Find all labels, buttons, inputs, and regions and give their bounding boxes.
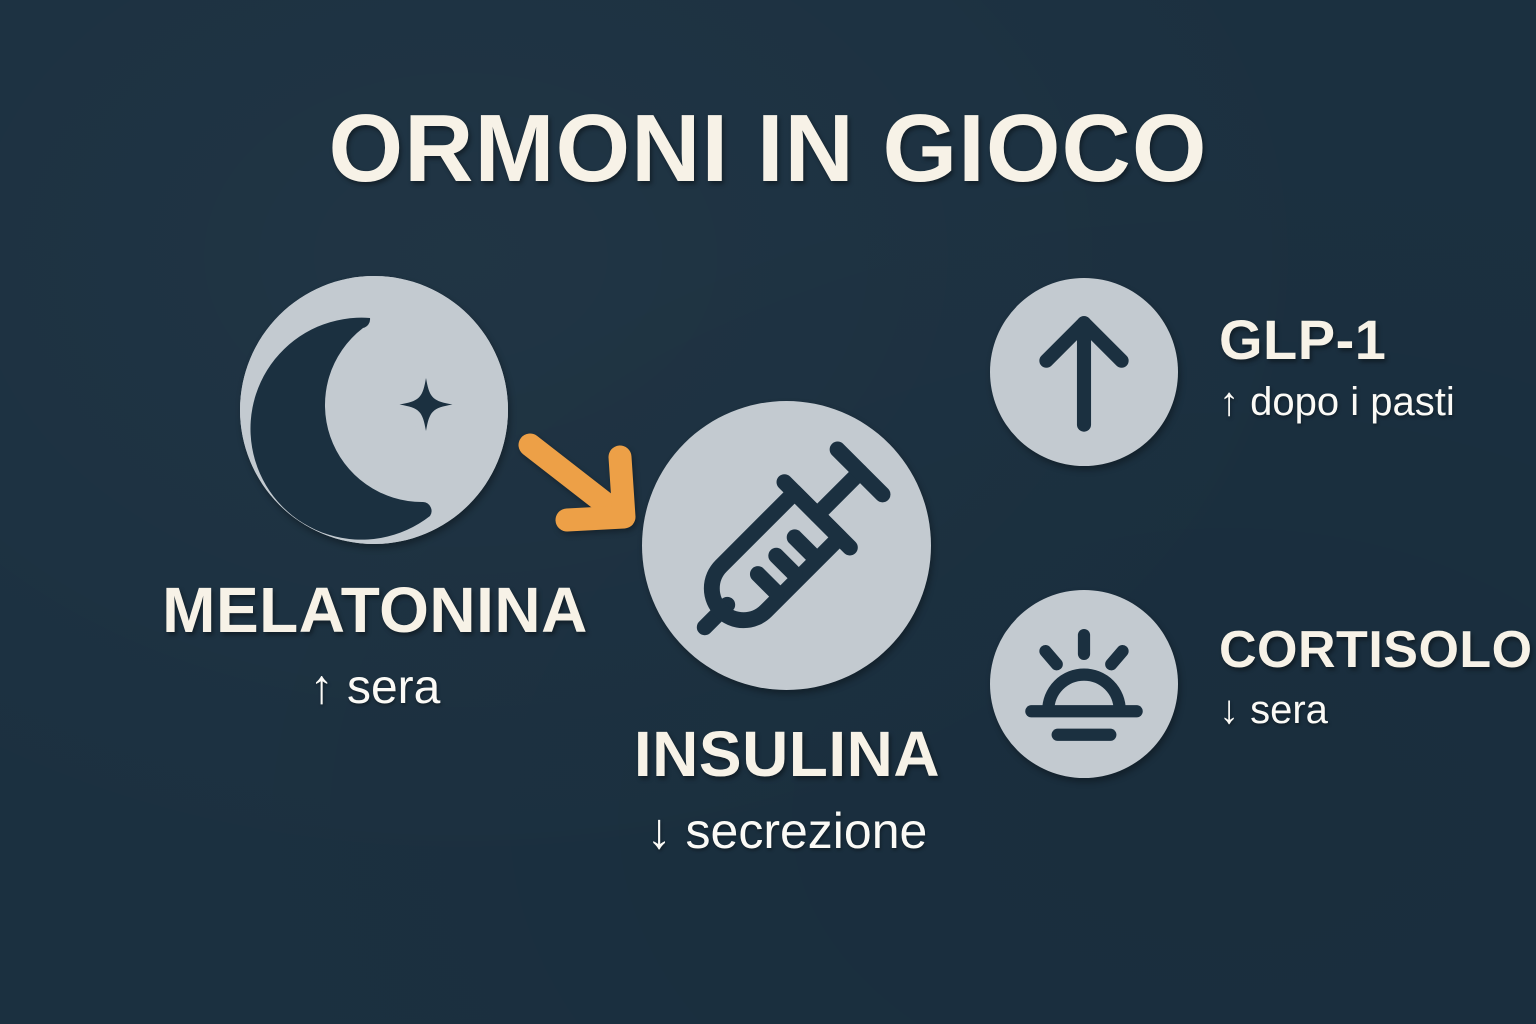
melatonina-subtext: ↑ sera bbox=[60, 664, 690, 712]
insulina-icon-circle bbox=[642, 401, 931, 690]
glp1-subtext: ↑ dopo i pasti bbox=[1219, 382, 1455, 422]
glp1-icon-circle bbox=[990, 278, 1178, 466]
glp1-label-block: GLP-1 ↑ dopo i pasti bbox=[1219, 312, 1455, 422]
arrow-down-right-icon bbox=[512, 425, 652, 545]
sunrise-icon bbox=[990, 590, 1178, 778]
cortisolo-subtext: ↓ sera bbox=[1219, 690, 1533, 730]
glp1-name: GLP-1 bbox=[1219, 312, 1455, 368]
infographic-canvas: ORMONI IN GIOCO MELATONINA ↑ sera bbox=[0, 0, 1536, 1024]
page-title: ORMONI IN GIOCO bbox=[0, 94, 1536, 204]
melatonina-label-block: MELATONINA ↑ sera bbox=[60, 578, 690, 712]
insulina-subtext: ↓ secrezione bbox=[482, 806, 1092, 856]
arrow-up-icon bbox=[990, 278, 1178, 466]
cortisolo-icon-circle bbox=[990, 590, 1178, 778]
cortisolo-label-block: CORTISOLO ↓ sera bbox=[1219, 624, 1533, 730]
syringe-icon bbox=[642, 401, 931, 690]
cortisolo-name: CORTISOLO bbox=[1219, 624, 1533, 676]
crescent-moon-icon bbox=[240, 276, 508, 544]
melatonina-icon-circle bbox=[240, 276, 508, 544]
melatonina-name: MELATONINA bbox=[60, 578, 690, 642]
